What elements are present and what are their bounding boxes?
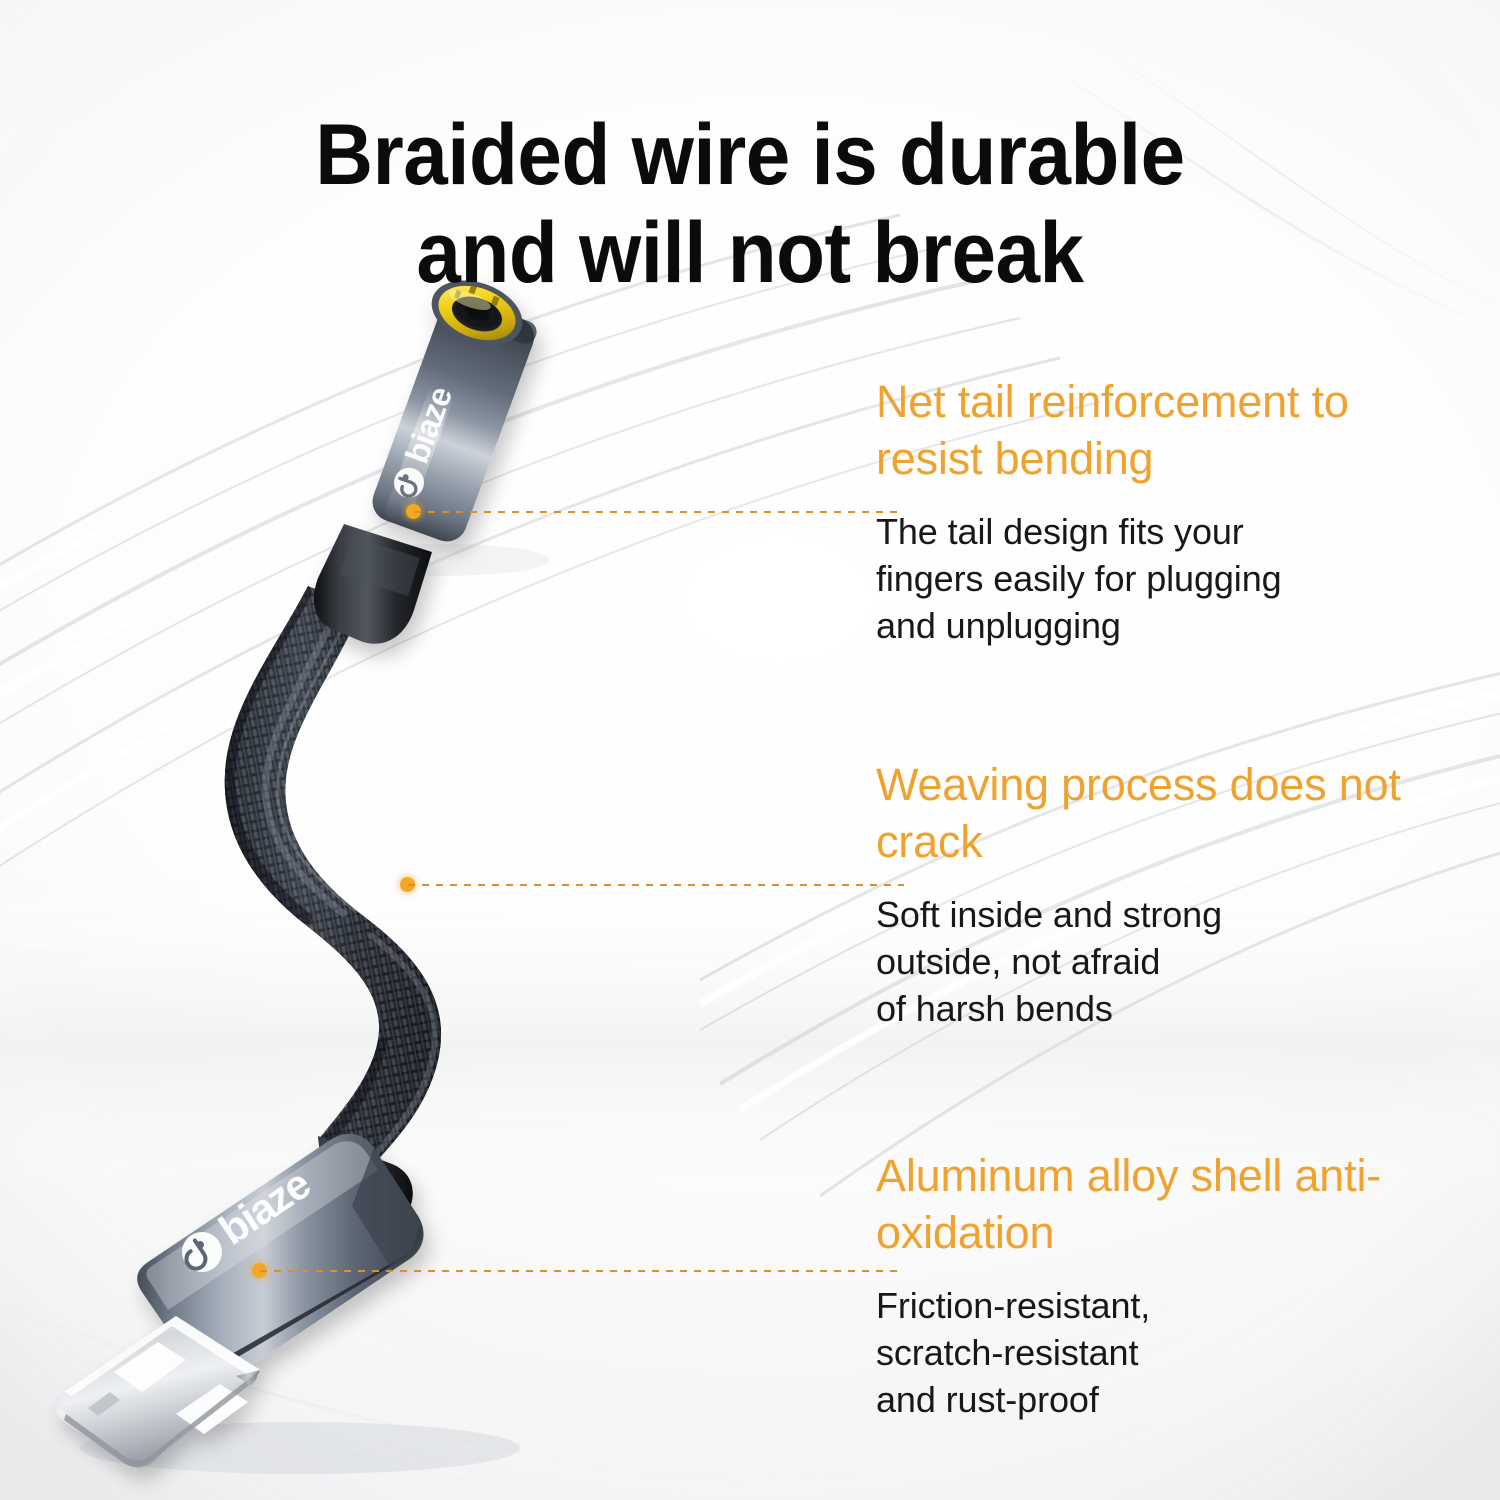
usb-a-connector: biaze	[56, 1134, 424, 1468]
svg-text:biaze: biaze	[211, 1160, 318, 1254]
feature-block-aluminum-alloy-shell: Aluminum alloy shell anti-oxidation Fric…	[876, 1148, 1446, 1424]
audio-jack-connector: biaze	[314, 269, 540, 644]
feature-block-net-tail-reinforcement: Net tail reinforcement to resist bending…	[876, 374, 1446, 650]
svg-text:biaze: biaze	[398, 382, 460, 468]
leader-line-3	[260, 1269, 904, 1272]
feature-1-body: The tail design fits your fingers easily…	[876, 509, 1446, 649]
feature-1-body-line-2: fingers easily for plugging	[876, 556, 1446, 603]
feature-1-body-line-1: The tail design fits your	[876, 509, 1446, 556]
feature-2-body-line-1: Soft inside and strong	[876, 892, 1446, 939]
feature-2-body: Soft inside and strong outside, not afra…	[876, 892, 1446, 1032]
braided-cable	[180, 560, 500, 1200]
usb-housing	[137, 1134, 423, 1382]
page-title: Braided wire is durable and will not bre…	[53, 106, 1448, 302]
feature-3-heading: Aluminum alloy shell anti-oxidation	[876, 1148, 1446, 1261]
feature-2-heading: Weaving process does not crack	[876, 757, 1446, 870]
infographic-page: biaze	[0, 0, 1500, 1500]
feature-3-body-line-3: and rust-proof	[876, 1377, 1446, 1424]
usb-brand-logo: biaze	[171, 1160, 318, 1280]
feature-block-weaving-process: Weaving process does not crack Soft insi…	[876, 757, 1446, 1033]
feature-3-body: Friction-resistant, scratch-resistant an…	[876, 1283, 1446, 1423]
feature-3-body-line-1: Friction-resistant,	[876, 1283, 1446, 1330]
page-title-line-1: Braided wire is durable	[315, 107, 1184, 203]
feature-1-heading: Net tail reinforcement to resist bending	[876, 374, 1446, 487]
leader-line-2	[408, 883, 904, 886]
jack-strain-relief	[314, 524, 432, 644]
feature-3-body-line-2: scratch-resistant	[876, 1330, 1446, 1377]
feature-2-body-line-3: of harsh bends	[876, 986, 1446, 1033]
page-title-line-2: and will not break	[53, 204, 1448, 302]
feature-1-heading-line-1: Net tail reinforcement	[876, 376, 1299, 427]
usb-plug-cutouts	[114, 1342, 248, 1434]
feature-2-heading-line-1: Weaving process	[876, 759, 1217, 810]
usb-strain-relief	[296, 1136, 413, 1256]
usb-plug	[56, 1316, 260, 1467]
feature-3-heading-line-1: Aluminum alloy shell	[876, 1150, 1282, 1201]
leader-line-1	[414, 510, 904, 513]
feature-1-body-line-3: and unplugging	[876, 603, 1446, 650]
feature-2-body-line-2: outside, not afraid	[876, 939, 1446, 986]
jack-brand-logo: biaze	[385, 382, 459, 503]
